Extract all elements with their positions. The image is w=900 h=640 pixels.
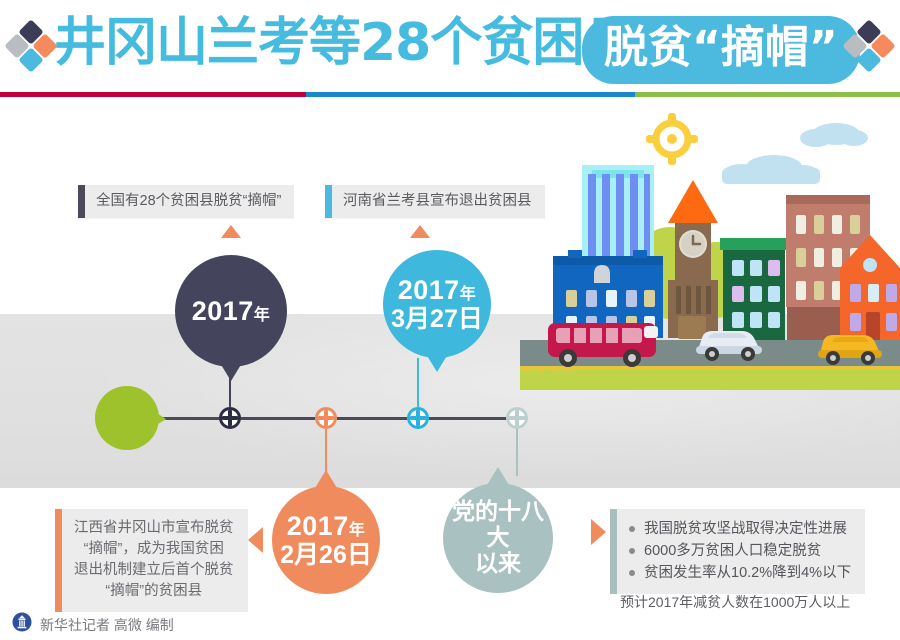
- label-accent-bar: [78, 185, 85, 218]
- rule-segment-blue: [306, 92, 635, 97]
- label-text: 河南省兰考县宣布退出贫困县: [332, 185, 545, 218]
- bubble-tail-icon: [487, 467, 509, 485]
- timeline-node-feb26[interactable]: [315, 407, 337, 429]
- header-rule: [0, 92, 900, 97]
- node-plus-icon: [410, 416, 426, 420]
- bubble-tail-icon: [220, 363, 242, 381]
- sun-icon: [646, 113, 698, 165]
- jinggangshan-callout: 江西省井冈山市宣布脱贫 “摘帽”，成为我国贫困 退出机制建立后首个脱贫 “摘帽”…: [55, 509, 248, 612]
- forecast-note: 预计2017年减贫人数在1000万人以上: [620, 592, 850, 612]
- callout-pointer-icon: [248, 527, 263, 553]
- achievements-list: 我国脱贫攻坚战取得决定性进展 6000多万贫困人口稳定脱贫 贫困发生率从10.2…: [617, 509, 865, 594]
- rule-segment-green: [635, 92, 900, 97]
- timeline-label-2017: 全国有28个贫困县脱贫“摘帽”: [78, 185, 294, 218]
- callout-line: 江西省井冈山市宣布脱贫: [74, 518, 234, 539]
- callout-line: “摘帽”，成为我国贫困: [74, 539, 234, 560]
- bubble-date: 2月26日: [280, 541, 372, 569]
- label-text: 全国有28个贫困县脱贫“摘帽”: [85, 185, 294, 218]
- diamond-cluster-right-icon: [846, 23, 892, 69]
- grass-shape: [520, 370, 900, 390]
- bubble-2017: 2017年: [175, 255, 287, 367]
- callout-line: “摘帽”的贫困县: [74, 581, 234, 602]
- node-plus-icon: [318, 416, 334, 420]
- list-item: 6000多万贫困人口稳定脱贫: [629, 540, 851, 562]
- list-item: 贫困发生率从10.2%降到4%以下: [629, 562, 851, 584]
- label-pointer-icon: [410, 225, 430, 238]
- diamond-cluster-left-icon: [8, 23, 54, 69]
- header: 井冈山兰考等28个贫困县 脱贫“摘帽”: [0, 0, 900, 102]
- callout-accent-bar: [610, 509, 617, 594]
- footer-credit: 新华社记者 高微 编制: [40, 615, 174, 635]
- timeline-node-mar27[interactable]: [407, 407, 429, 429]
- cloud-icon: [800, 123, 868, 147]
- rule-segment-red: [0, 92, 306, 97]
- timeline-node-2017[interactable]: [219, 407, 241, 429]
- bubble-date: 3月27日: [391, 305, 483, 333]
- list-item-label: 我国脱贫攻坚战取得决定性进展: [644, 518, 847, 540]
- bullet-dot-icon: [629, 526, 635, 532]
- bubble-line-2: 以来: [443, 551, 553, 577]
- bubble-mar27: 2017年 3月27日: [383, 250, 491, 358]
- timeline-start-dot: [95, 386, 159, 450]
- bullet-dot-icon: [629, 570, 635, 576]
- footer: 新华社记者 高微 编制: [12, 612, 174, 637]
- bubble-since-18th: 党的十八大 以来: [443, 483, 553, 593]
- cloud-icon: [722, 155, 820, 184]
- node-plus-icon: [509, 416, 525, 420]
- bullet-dot-icon: [629, 548, 635, 554]
- bubble-year: 2017: [287, 511, 349, 541]
- label-pointer-icon: [221, 225, 241, 238]
- bubble-year-unit: 年: [349, 522, 366, 539]
- bubble-tail-icon: [426, 354, 448, 372]
- timeline-start-dot-tail-icon: [152, 410, 166, 428]
- bubble-line-1: 党的十八大: [443, 499, 553, 551]
- bubble-year: 2017: [192, 296, 254, 326]
- node-plus-icon: [222, 416, 238, 420]
- title-badge: 脱贫“摘帽”: [582, 16, 860, 84]
- timeline-label-lankao: 河南省兰考县宣布退出贫困县: [325, 185, 545, 218]
- city-skyline-illustration: [520, 108, 900, 390]
- green-building: [720, 238, 788, 341]
- callout-accent-bar: [55, 509, 62, 612]
- bubble-feb26: 2017年 2月26日: [272, 486, 380, 594]
- achievements-callout: 我国脱贫攻坚战取得决定性进展 6000多万贫困人口稳定脱贫 贫困发生率从10.2…: [610, 509, 865, 594]
- list-item-label: 6000多万贫困人口稳定脱贫: [644, 540, 821, 562]
- label-accent-bar: [325, 185, 332, 218]
- bubble-year-unit: 年: [254, 307, 271, 324]
- page-title: 井冈山兰考等28个贫困县: [54, 12, 634, 74]
- bubble-year: 2017: [398, 275, 460, 305]
- xinhua-logo-icon: [12, 612, 32, 637]
- clock-tower-building: [668, 180, 718, 339]
- achievements-pointer-icon: [591, 519, 606, 545]
- callout-text: 江西省井冈山市宣布脱贫 “摘帽”，成为我国贫困 退出机制建立后首个脱贫 “摘帽”…: [62, 509, 248, 612]
- bubble-year-unit: 年: [460, 286, 477, 303]
- timeline-node-since[interactable]: [506, 407, 528, 429]
- list-item: 我国脱贫攻坚战取得决定性进展: [629, 518, 851, 540]
- callout-line: 退出机制建立后首个脱贫: [74, 560, 234, 581]
- list-item-label: 贫困发生率从10.2%降到4%以下: [644, 562, 851, 584]
- infographic-canvas: 井冈山兰考等28个贫困县 脱贫“摘帽”: [0, 0, 900, 640]
